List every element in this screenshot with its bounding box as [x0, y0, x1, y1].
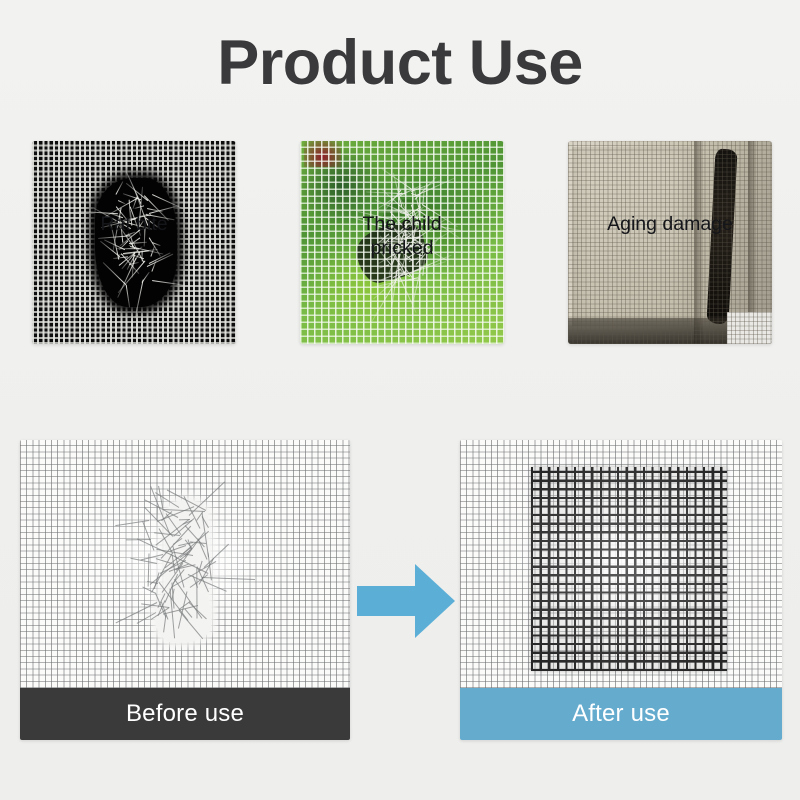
repair-patch	[531, 467, 727, 670]
arrow-right-icon	[357, 562, 455, 640]
beige-mesh-texture	[568, 141, 772, 344]
frayed-threads	[32, 141, 236, 344]
damage-example-caption-rat-bite: Rat bite	[32, 212, 236, 236]
loose-threads	[20, 440, 350, 688]
after-use-label: After use	[572, 700, 670, 728]
before-use-label: Before use	[126, 700, 244, 728]
product-use-infographic: Product Use	[0, 0, 800, 800]
before-use-label-bar: Before use	[20, 688, 350, 740]
before-use-panel: Before use	[20, 440, 350, 740]
caption-line: Aging damage	[568, 212, 772, 236]
after-use-panel: After use	[460, 440, 782, 740]
damage-example-image-aging-damage	[568, 141, 772, 344]
after-use-image	[460, 440, 782, 688]
patch-shading	[531, 467, 727, 670]
damage-examples-row	[0, 141, 800, 401]
after-use-label-bar: After use	[460, 688, 782, 740]
damage-example-caption-child-pricked: The child pricked	[300, 212, 504, 260]
damage-example-caption-aging-damage: Aging damage	[568, 212, 772, 236]
caption-line: The child	[300, 212, 504, 236]
caption-line: Rat bite	[32, 212, 236, 236]
before-use-image	[20, 440, 350, 688]
caption-line: pricked	[300, 236, 504, 260]
page-title: Product Use	[0, 28, 800, 98]
damage-example-image-rat-bite	[32, 141, 236, 344]
